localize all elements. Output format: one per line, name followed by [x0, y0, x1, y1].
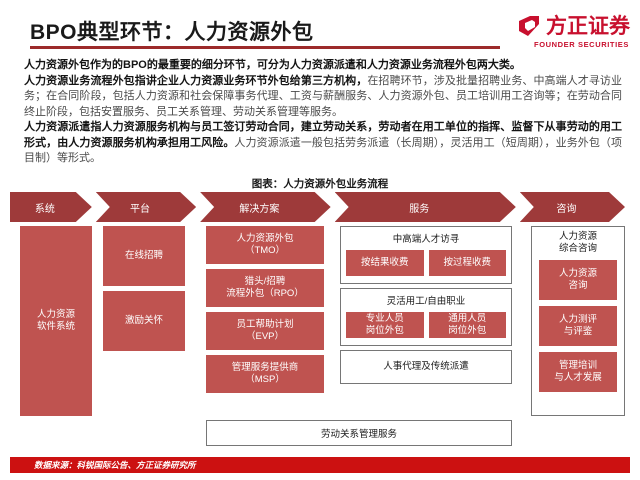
body-text: 人力资源外包作为的BPO的最重要的细分环节，可分为人力资源派遣和人力资源业务流程… [24, 58, 622, 167]
founder-diamond-icon [517, 14, 541, 38]
paragraph-1: 人力资源外包作为的BPO的最重要的细分环节，可分为人力资源派遣和人力资源业务流程… [24, 58, 622, 74]
box-fee-by-process: 按过程收费 [429, 250, 507, 276]
box-professional-outsourcing: 专业人员 岗位外包 [346, 312, 424, 338]
column-consulting: 人力资源 综合咨询 人力资源 咨询 人力测评 与评鉴 管理培训 与人才发展 [531, 226, 625, 416]
paragraph-2: 人力资源业务流程外包指讲企业人力资源业务环节外包给第三方机构，在招聘环节，涉及批… [24, 74, 622, 121]
column-service: 中高端人才访寻 按结果收费 按过程收费 灵活用工/自由职业 专业人员 岗位外包 … [340, 226, 512, 388]
logo-english-name: FOUNDER SECURITIES [534, 40, 629, 49]
source-bar: 数据来源：科锐国际公告、方正证券研究所 [10, 457, 630, 473]
paragraph-2-bold: 人力资源业务流程外包指讲企业人力资源业务环节外包给第三方机构， [24, 75, 367, 87]
paragraph-1-bold: 人力资源外包作为的BPO的最重要的细分环节，可分为人力资源派遣和人力资源业务流程… [24, 59, 521, 71]
box-hr-consulting: 人力资源 咨询 [539, 260, 617, 300]
box-msp: 管理服务提供商 （MSP） [206, 355, 324, 393]
group-title: 灵活用工/自由职业 [387, 296, 466, 308]
chevron-label: 服务 [409, 200, 441, 215]
chevron-stage-system: 系统 [10, 192, 92, 222]
group-flexible-employment: 灵活用工/自由职业 专业人员 岗位外包 通用人员 岗位外包 [340, 288, 512, 346]
column-system: 人力资源 软件系统 [20, 226, 92, 416]
box-hr-software-system: 人力资源 软件系统 [20, 226, 92, 416]
box-rpo: 猎头/招聘 流程外包（RPO） [206, 269, 324, 307]
chevron-stage-service: 服务 [335, 192, 516, 222]
logo-chinese-name: 方正证券 [546, 16, 630, 37]
consulting-title: 人力资源 综合咨询 [559, 231, 597, 255]
bottom-bar-labor-relations: 劳动关系管理服务 [206, 420, 512, 446]
box-incentive-care: 激励关怀 [103, 291, 185, 351]
box-talent-assessment: 人力测评 与评鉴 [539, 306, 617, 346]
group-title: 中高端人才访寻 [393, 234, 460, 246]
box-general-outsourcing: 通用人员 岗位外包 [429, 312, 507, 338]
box-fee-by-result: 按结果收费 [346, 250, 424, 276]
group-items: 专业人员 岗位外包 通用人员 岗位外包 [341, 312, 511, 338]
slide: BPO典型环节：人力资源外包 方正证券 FOUNDER SECURITIES 人… [0, 0, 640, 480]
chevron-label: 解决方案 [239, 200, 291, 215]
box-management-training: 管理培训 与人才发展 [539, 352, 617, 392]
chevron-stage-consulting: 咨询 [520, 192, 625, 222]
chevron-label: 系统 [35, 200, 67, 215]
chevron-label: 平台 [130, 200, 162, 215]
figure-caption: 图表：人力资源外包业务流程 [0, 176, 640, 191]
title-underline [30, 46, 500, 49]
box-online-recruitment: 在线招聘 [103, 226, 185, 286]
group-title: 人事代理及传统派遣 [383, 361, 469, 373]
consulting-container: 人力资源 综合咨询 人力资源 咨询 人力测评 与评鉴 管理培训 与人才发展 [531, 226, 625, 416]
company-logo: 方正证券 FOUNDER SECURITIES [517, 14, 630, 49]
diagram-columns: 人力资源 软件系统 在线招聘 激励关怀 人力资源外包 （TMO） 猎头/招聘 流… [10, 226, 630, 416]
figure-panel: 系统 平台 解决方案 服务 咨询 人力资源 软件系统 在线招聘 激励关怀 人力资… [10, 192, 630, 454]
group-hr-agency-dispatch: 人事代理及传统派遣 [340, 350, 512, 384]
box-evp: 员工帮助计划 （EVP） [206, 312, 324, 350]
group-high-end-talent-search: 中高端人才访寻 按结果收费 按过程收费 [340, 226, 512, 284]
box-tmo: 人力资源外包 （TMO） [206, 226, 324, 264]
column-platform: 在线招聘 激励关怀 [103, 226, 185, 351]
process-chevron-band: 系统 平台 解决方案 服务 咨询 [10, 192, 630, 222]
chevron-label: 咨询 [556, 200, 588, 215]
column-solution: 人力资源外包 （TMO） 猎头/招聘 流程外包（RPO） 员工帮助计划 （EVP… [206, 226, 324, 398]
source-text: 数据来源：科锐国际公告、方正证券研究所 [10, 459, 196, 471]
page-title: BPO典型环节：人力资源外包 [30, 16, 314, 46]
chevron-stage-solution: 解决方案 [200, 192, 331, 222]
slide-header: BPO典型环节：人力资源外包 方正证券 FOUNDER SECURITIES [0, 0, 640, 56]
paragraph-3: 人力资源派遣指人力资源服务机构与员工签订劳动合同，建立劳动关系，劳动者在用工单位… [24, 120, 622, 167]
group-items: 按结果收费 按过程收费 [341, 250, 511, 276]
chevron-stage-platform: 平台 [96, 192, 196, 222]
